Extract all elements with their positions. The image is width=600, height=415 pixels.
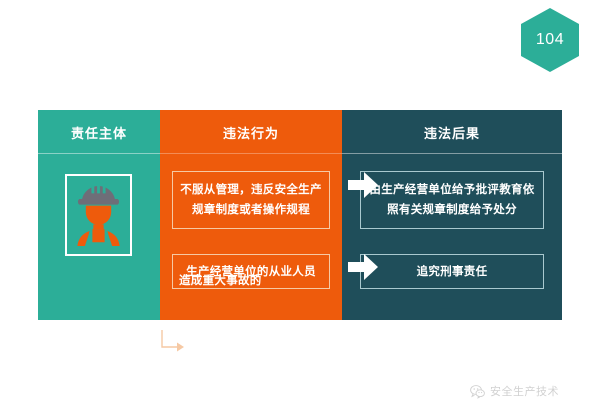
result-box-row1: 由生产经营单位给予批评教育依照有关规章制度给予处分 [360, 171, 544, 229]
behavior-box-row1: 不服从管理，违反安全生产规章制度或者操作规程 [172, 171, 330, 229]
flow-arrow-row2-icon [348, 254, 378, 280]
page-number-badge: 104 [521, 8, 579, 72]
wechat-icon [470, 384, 485, 399]
flow-arrow-row1-icon [348, 172, 378, 198]
footer-watermark: 安全生产技术 [470, 383, 559, 399]
behavior-text-row1: 不服从管理，违反安全生产规章制度或者操作规程 [179, 180, 323, 220]
result-text-row2: 追究刑事责任 [417, 262, 488, 282]
responsibility-table: 责任主体 [38, 110, 562, 320]
column-body-subject [38, 154, 160, 320]
column-header-result: 违法后果 [342, 110, 562, 154]
behavior-box-row2: 生产经营单位的从业人员 造成重大事故的 [172, 254, 330, 289]
behavior-overlap-group: 生产经营单位的从业人员 造成重大事故的 [179, 262, 323, 282]
result-box-row2: 追究刑事责任 [360, 254, 544, 289]
worker-hardhat-icon [65, 174, 132, 256]
column-behavior: 违法行为 不服从管理，违反安全生产规章制度或者操作规程 生产经营单位的从业人员 … [160, 110, 342, 320]
column-header-behavior: 违法行为 [160, 110, 342, 154]
connector-bracket [161, 330, 185, 373]
hexagon-shape: 104 [521, 8, 579, 72]
result-text-row1: 由生产经营单位给予批评教育依照有关规章制度给予处分 [367, 180, 537, 220]
column-subject: 责任主体 [38, 110, 160, 320]
column-body-behavior: 不服从管理，违反安全生产规章制度或者操作规程 生产经营单位的从业人员 造成重大事… [160, 154, 342, 320]
column-header-subject: 责任主体 [38, 110, 160, 154]
behavior-overlap-text-row2: 造成重大事故的 [179, 271, 323, 291]
page-number-label: 104 [536, 31, 564, 49]
column-result: 违法后果 由生产经营单位给予批评教育依照有关规章制度给予处分 追究刑事责任 [342, 110, 562, 320]
footer-brand-label: 安全生产技术 [490, 383, 559, 399]
